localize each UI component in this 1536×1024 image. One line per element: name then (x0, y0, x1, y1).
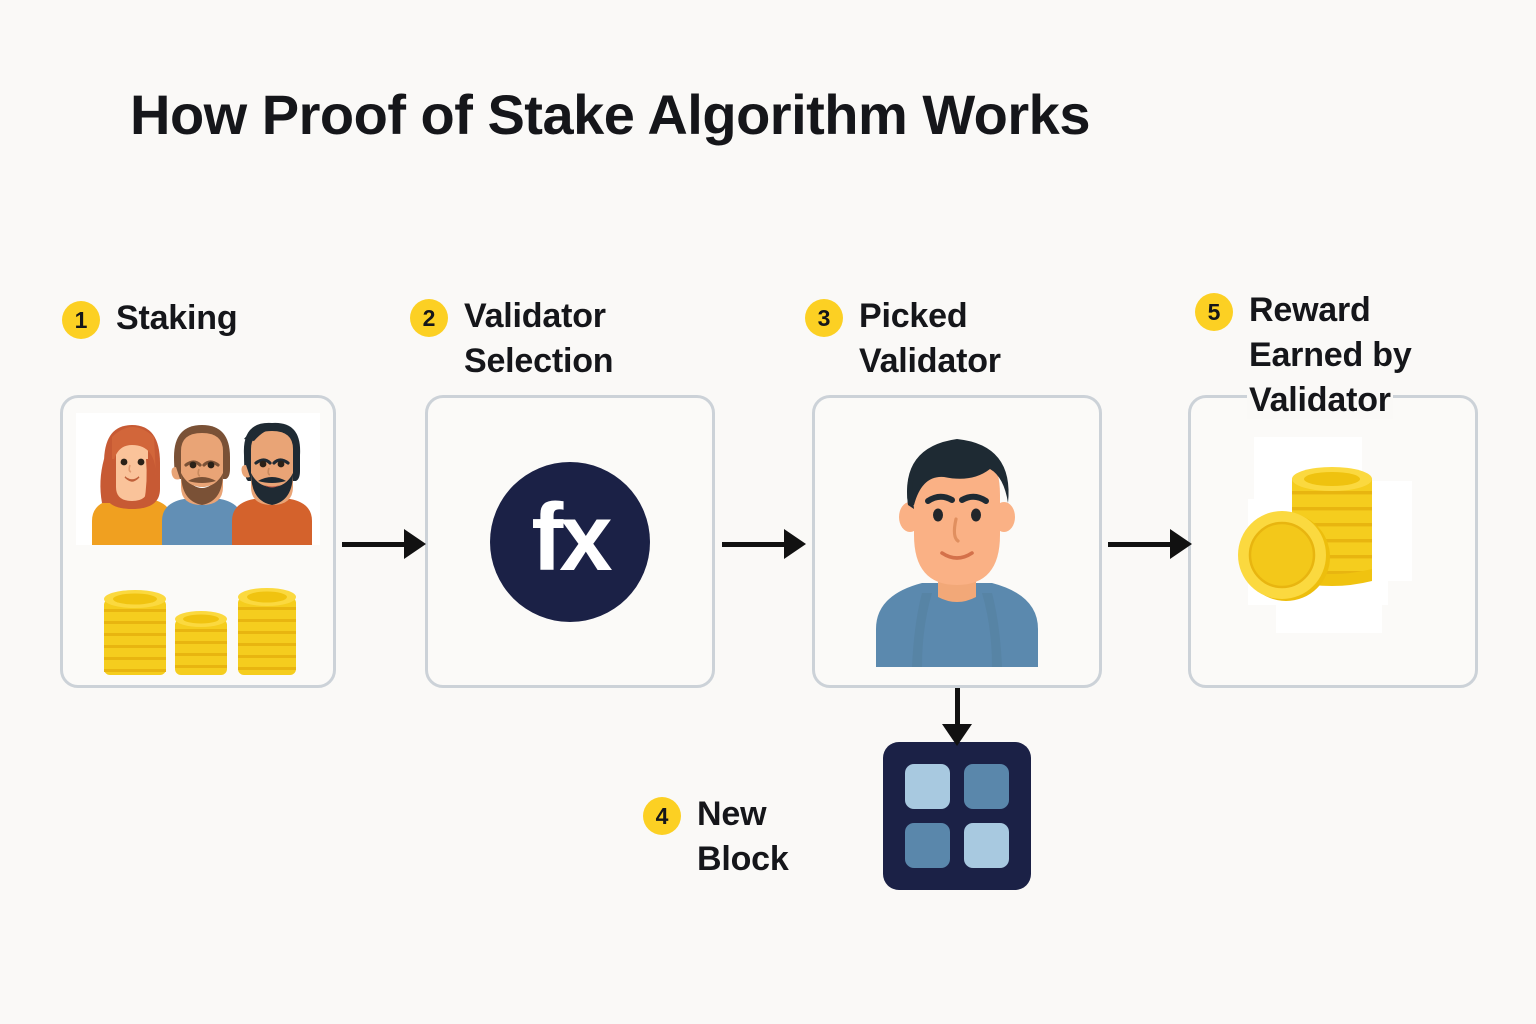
card-staking-content (63, 398, 333, 685)
fx-logo-text: fx (531, 490, 608, 586)
step-label-2-line-1: Validator (462, 297, 608, 335)
card-staking[interactable] (60, 395, 336, 688)
step-label-1-line-1: Staking (114, 299, 239, 337)
arrow-shaft (342, 542, 404, 547)
step-header-1: 1 Staking (62, 296, 239, 341)
step-label-5: Reward Earned by Validator (1247, 288, 1414, 424)
step-label-1: Staking (114, 296, 239, 341)
step-label-3-line-2: Validator (857, 342, 1003, 380)
arrow-shaft (722, 542, 784, 547)
step-header-3: 3 Picked Validator (805, 294, 1003, 384)
step-label-4-line-1: New (695, 795, 768, 833)
step-header-2: 2 Validator Selection (410, 294, 615, 384)
step-label-4: New Block (695, 792, 791, 882)
arrow-head-icon (404, 529, 426, 559)
block-grid-icon[interactable] (883, 742, 1031, 890)
arrow-picked-validator-to-reward (1108, 529, 1192, 559)
step-badge-3: 3 (805, 299, 843, 337)
arrow-head-icon (1170, 529, 1192, 559)
step-badge-1: 1 (62, 301, 100, 339)
block-cell-bottom-right (964, 823, 1009, 868)
card-validator-selection-content: fx (428, 398, 712, 685)
step-badge-5: 5 (1195, 293, 1233, 331)
step-header-5: 5 Reward Earned by Validator (1195, 288, 1414, 424)
validator-person-avatar-icon (852, 417, 1062, 667)
arrow-validator-selection-to-picked-validator (722, 529, 806, 559)
step-label-5-line-3: Validator (1247, 381, 1393, 419)
step-badge-2: 2 (410, 299, 448, 337)
step-label-2-line-2: Selection (462, 342, 615, 380)
card-reward-earned-content (1191, 398, 1475, 685)
arrow-head-icon (784, 529, 806, 559)
fx-function-logo-icon: fx (490, 462, 650, 622)
step-label-4-line-2: Block (695, 840, 791, 878)
arrow-head-icon (942, 724, 972, 746)
arrow-shaft (955, 688, 960, 724)
card-picked-validator[interactable] (812, 395, 1102, 688)
card-validator-selection[interactable]: fx (425, 395, 715, 688)
block-cell-top-right (964, 764, 1009, 809)
step-label-5-line-1: Reward (1247, 291, 1373, 329)
step-label-3-line-1: Picked (857, 297, 969, 335)
arrow-picked-validator-to-new-block (942, 688, 972, 746)
page-title: How Proof of Stake Algorithm Works (130, 82, 1090, 147)
block-cell-top-left (905, 764, 950, 809)
step-badge-4: 4 (643, 797, 681, 835)
people-with-coin-stacks-illustration (68, 403, 328, 681)
step-label-2: Validator Selection (462, 294, 615, 384)
arrow-shaft (1108, 542, 1170, 547)
card-picked-validator-content (815, 398, 1099, 685)
step-header-4: 4 New Block (643, 792, 791, 882)
gold-coin-stack-illustration (1218, 437, 1448, 647)
card-reward-earned[interactable] (1188, 395, 1478, 688)
step-label-5-line-2: Earned by (1247, 336, 1414, 374)
arrow-staking-to-validator-selection (342, 529, 426, 559)
step-label-3: Picked Validator (857, 294, 1003, 384)
block-cell-bottom-left (905, 823, 950, 868)
